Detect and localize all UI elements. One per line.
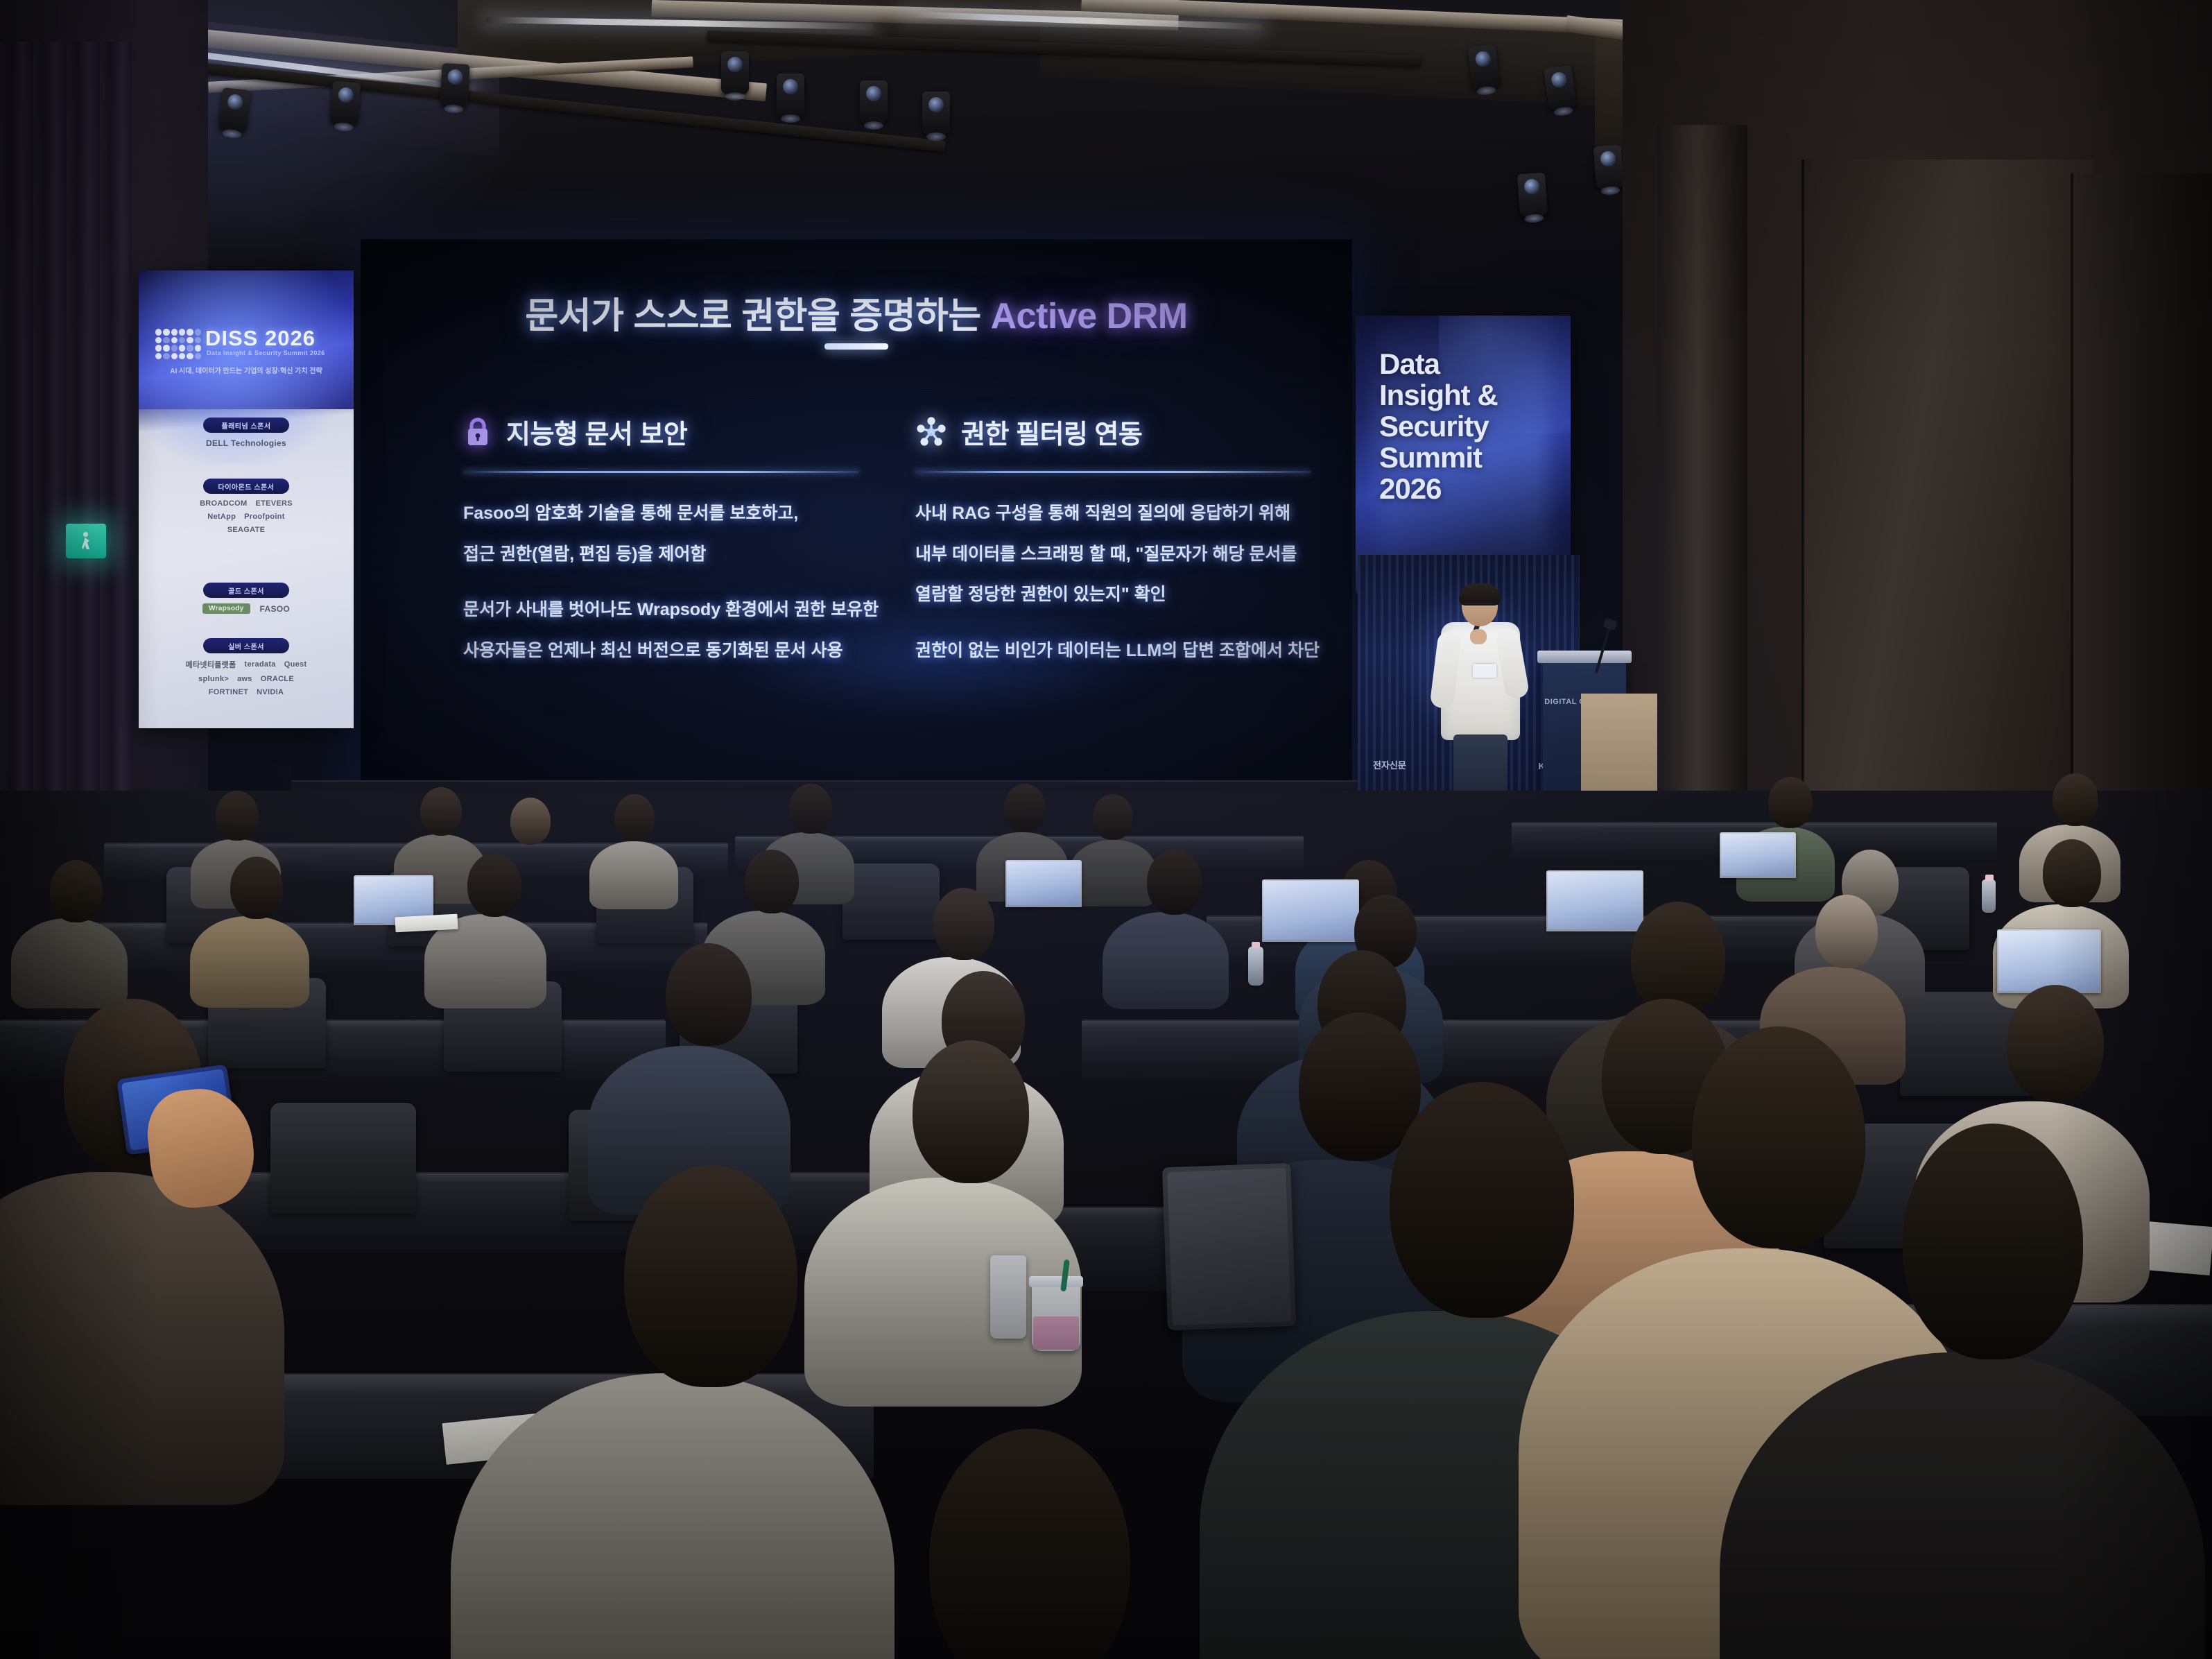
backdrop-sponsor-left: 전자신문 — [1373, 758, 1406, 771]
spotlight-lens — [1523, 178, 1539, 194]
right-wall-column — [2073, 173, 2212, 832]
stage-spotlight — [721, 51, 749, 94]
audience-head — [1815, 895, 1878, 968]
sponsor-logo: SEAGATE — [227, 526, 265, 534]
presenter — [1435, 586, 1526, 801]
audience-head — [50, 860, 103, 922]
tablet-screen[interactable] — [1167, 1168, 1291, 1325]
audience-shoulders — [11, 918, 128, 1008]
sponsor-tier-platinum: 플래티넘 스폰서 DELL Technologies — [139, 418, 354, 453]
laptop-screen — [1007, 861, 1080, 905]
audience-head — [510, 798, 551, 845]
sponsor-row: splunk> aws ORACLE — [139, 675, 354, 683]
audience-head — [913, 1040, 1029, 1183]
stage-spotlight — [922, 92, 950, 135]
left-wall-drape — [0, 42, 132, 839]
water-bottle — [1248, 947, 1263, 986]
sponsor-row: DELL Technologies — [139, 438, 354, 448]
laptop-screen — [1263, 881, 1358, 940]
emergency-exit-sign — [66, 524, 106, 558]
audience-shoulders — [1069, 840, 1157, 906]
audience-head — [789, 784, 832, 834]
banner-title: Data Insight & Security Summit 2026 — [1379, 349, 1498, 505]
screen-vignette — [361, 239, 1352, 822]
tumbler-cup — [990, 1255, 1026, 1339]
audience-head — [230, 857, 283, 919]
presenter-hand — [1470, 629, 1487, 644]
right-wall-column — [1803, 160, 2094, 839]
spotlight-lens — [447, 69, 463, 85]
sponsor-tier-gold: 골드 스폰서 Wrapsody FASOO — [139, 583, 354, 619]
diss-korean-tagline: AI 시대, 데이터가 만드는 기업의 성장·혁신 가치 전략 — [139, 365, 354, 375]
presenter-glasses — [1464, 603, 1495, 610]
sponsor-logo: 메타넷티플랫폼 — [186, 659, 236, 670]
sponsor-logo: NVIDIA — [257, 688, 284, 696]
sponsor-tier-silver: 실버 스폰서 메타넷티플랫폼 teradata Quest splunk> aw… — [139, 638, 354, 701]
sponsor-logo: DELL Technologies — [206, 438, 286, 448]
podium-top-surface — [1537, 651, 1632, 663]
stage-spotlight — [1593, 145, 1624, 190]
stage-spotlight — [330, 81, 361, 126]
audience-head — [1631, 902, 1725, 1015]
banner-title-line: Summit — [1379, 442, 1498, 474]
sponsor-logo: Proofpoint — [244, 513, 285, 521]
audience-head — [1903, 1124, 2083, 1359]
stage-spotlight — [860, 80, 888, 123]
audience-head — [467, 853, 521, 917]
audience-head — [1692, 1026, 1865, 1248]
projection-screen: 문서가 스스로 권한을 증명하는 Active DRM 지능형 문서 보안 — [361, 239, 1352, 822]
banner-header: DISS 2026 Data Insight & Security Summit… — [139, 270, 354, 409]
spotlight-lens — [1550, 71, 1568, 89]
sponsor-logo: Quest — [284, 660, 307, 669]
cup-lid — [1029, 1276, 1083, 1287]
paper-handout — [395, 914, 458, 933]
stage-spotlight — [1468, 44, 1500, 90]
laptop-screen — [1998, 931, 2100, 991]
laptop — [1262, 879, 1359, 942]
conference-photo: 24 23 22 21 20 문서가 스스로 권한을 증명하는 Active D… — [0, 0, 2212, 1659]
sponsor-tier-label: 골드 스폰서 — [203, 583, 289, 598]
audience-head — [2007, 985, 2104, 1101]
laptop — [1546, 870, 1643, 931]
sponsor-logo: BROADCOM — [200, 499, 247, 508]
exit-running-figure-icon — [80, 532, 92, 550]
banner-title-line: Data — [1379, 349, 1498, 380]
spotlight-lens — [783, 79, 798, 94]
audience-head — [1004, 784, 1046, 832]
audience-head — [745, 850, 799, 913]
spotlight-lens — [727, 57, 743, 72]
laptop — [1720, 832, 1796, 878]
sponsor-row: SEAGATE — [139, 526, 354, 534]
diss-dot-logo-icon — [155, 329, 201, 359]
audience-head — [2053, 773, 2098, 826]
presenter-name-badge — [1473, 664, 1496, 678]
right-wall-column — [1657, 125, 1747, 853]
audience-shoulders — [1103, 912, 1229, 1009]
spotlight-lens — [928, 97, 944, 112]
sponsor-row: NetApp Proofpoint — [139, 513, 354, 521]
sponsor-banner-left: DISS 2026 Data Insight & Security Summit… — [139, 270, 354, 728]
audience-head — [420, 787, 462, 836]
diss-wordmark: DISS 2026 — [205, 326, 316, 351]
tablet-device[interactable] — [1162, 1163, 1296, 1330]
sponsor-logo: FASOO — [260, 604, 291, 614]
diss-subtitle: Data Insight & Security Summit 2026 — [207, 350, 325, 356]
audience-shoulders — [190, 916, 309, 1008]
slide-surface: 문서가 스스로 권한을 증명하는 Active DRM 지능형 문서 보안 — [361, 239, 1352, 822]
banner-title-line: Insight & — [1379, 380, 1498, 411]
laptop-screen — [1721, 834, 1795, 876]
stage-spotlight — [777, 74, 804, 117]
sponsor-tier-label: 플래티넘 스폰서 — [203, 418, 289, 433]
banner-title-line: Security — [1379, 411, 1498, 442]
cup-sleeve — [1033, 1316, 1079, 1350]
sponsor-row: FORTINET NVIDIA — [139, 688, 354, 696]
audience-head — [1390, 1082, 1574, 1318]
spotlight-lens — [1475, 51, 1492, 67]
water-bottle — [1982, 879, 1996, 913]
stage-spotlight — [218, 87, 250, 133]
spotlight-lens — [1600, 151, 1616, 166]
laptop — [1005, 860, 1082, 907]
audience-shoulders — [589, 841, 678, 909]
spotlight-lens — [227, 94, 243, 110]
sponsor-logo: ORACLE — [261, 675, 294, 683]
audience-head — [933, 888, 994, 960]
sponsor-row: Wrapsody FASOO — [139, 603, 354, 614]
spotlight-lens — [866, 86, 881, 101]
event-banner-right: Data Insight & Security Summit 2026 AI 시… — [1356, 316, 1571, 593]
wall-seam — [1801, 160, 1804, 839]
audience-head — [1147, 850, 1202, 915]
sponsor-logo: splunk> — [198, 675, 229, 683]
laptop — [1997, 929, 2101, 993]
audience-head — [216, 791, 259, 841]
chair — [843, 863, 940, 940]
wall-seam — [2071, 173, 2073, 832]
iced-drink-cup — [1032, 1269, 1080, 1351]
laptop-screen — [1548, 872, 1642, 929]
sponsor-tier-diamond: 다이아몬드 스폰서 BROADCOM ETEVERS NetApp Proofp… — [139, 479, 354, 539]
sponsor-logo: FORTINET — [209, 688, 248, 696]
audience-head — [614, 794, 655, 841]
sponsor-logo: NetApp — [207, 513, 236, 521]
stage-spotlight — [1544, 65, 1577, 112]
audience-head — [2043, 839, 2101, 907]
sponsor-logo: aws — [237, 675, 252, 683]
chair — [270, 1103, 416, 1214]
stage-spotlight — [1517, 173, 1548, 218]
audience-head — [1093, 794, 1133, 840]
banner-title-line: 2026 — [1379, 474, 1498, 505]
sponsor-tier-label: 실버 스폰서 — [203, 638, 289, 653]
stage-spotlight — [440, 63, 469, 108]
sponsor-logo: teradata — [245, 660, 276, 669]
sponsor-row: 메타넷티플랫폼 teradata Quest — [139, 659, 354, 670]
sponsor-logo: Wrapsody — [202, 603, 250, 614]
audience-head — [666, 943, 752, 1046]
sponsor-tier-label: 다이아몬드 스폰서 — [203, 479, 289, 494]
audience-head — [624, 1165, 797, 1387]
sponsor-logo: ETEVERS — [255, 499, 292, 508]
spotlight-lens — [338, 87, 354, 103]
audience-head — [1768, 777, 1813, 828]
sponsor-row: BROADCOM ETEVERS — [139, 499, 354, 508]
